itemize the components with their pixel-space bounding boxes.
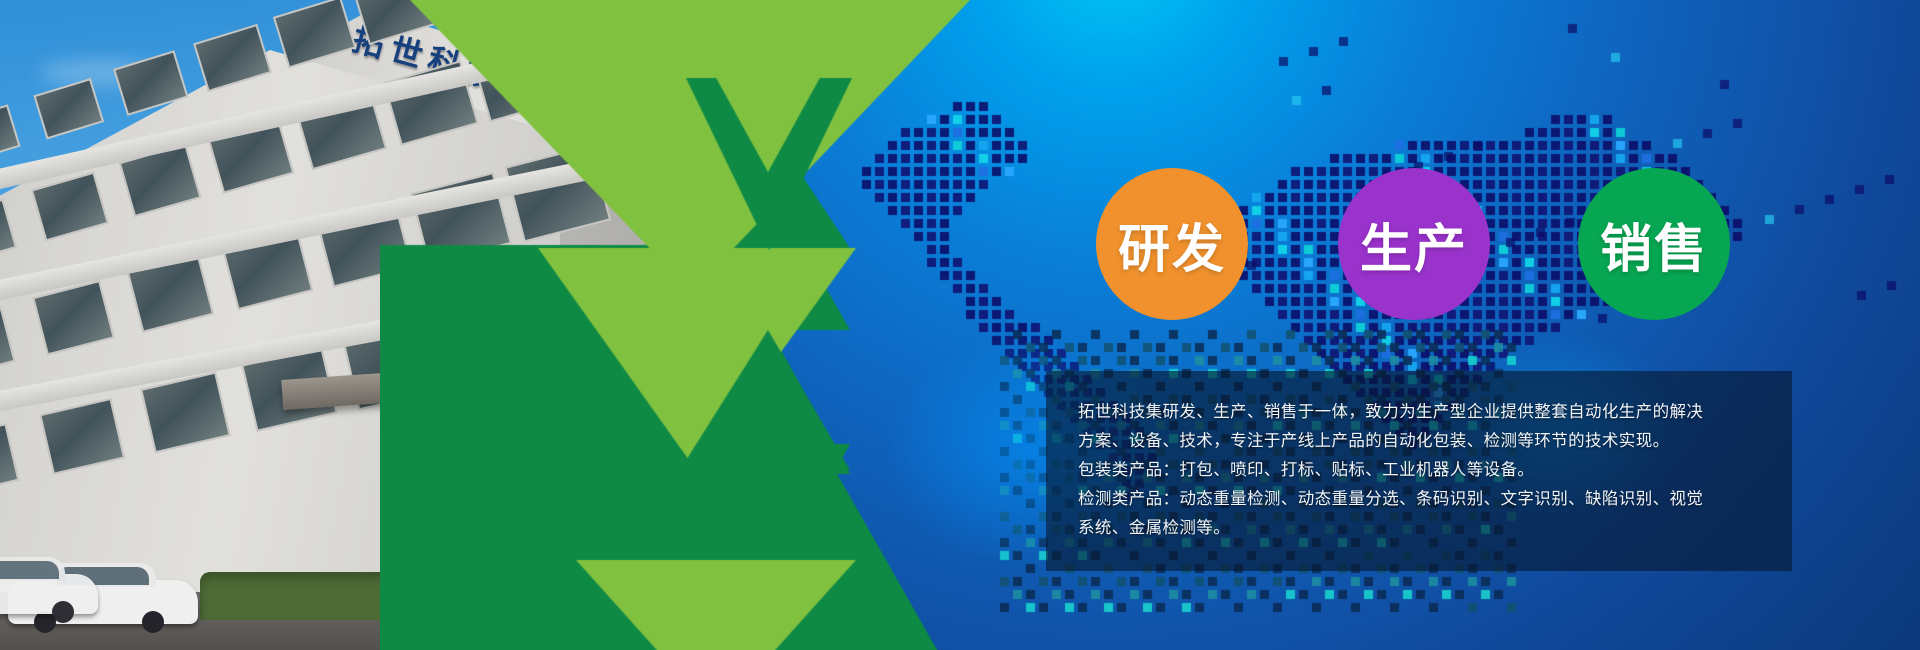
company-description-panel: 拓世科技集研发、生产、销售于一体，致力为生产型企业提供整套自动化生产的解决 方案… [1046, 371, 1792, 571]
badge-sales[interactable]: 销售 [1578, 168, 1730, 320]
car-wheel [142, 611, 164, 633]
parked-car [0, 574, 98, 614]
car-window [0, 561, 59, 579]
badge-production[interactable]: 生产 [1338, 168, 1490, 320]
hedge [200, 572, 410, 620]
description-line: 检测类产品：动态重量检测、动态重量分选、条码识别、文字识别、缺陷识别、视觉 [1078, 484, 1762, 513]
green-triangle-divider [380, 0, 1140, 650]
description-line: 方案、设备、技术，专注于产线上产品的自动化包装、检测等环节的技术实现。 [1078, 426, 1762, 455]
car-wheel [52, 601, 74, 623]
badge-research-development[interactable]: 研发 [1096, 168, 1248, 320]
description-line: 系统、金属检测等。 [1078, 513, 1762, 542]
description-line: 包装类产品：打包、喷印、打标、贴标、工业机器人等设备。 [1078, 455, 1762, 484]
company-hero-banner: 拓世科技 研发 生产 销售 拓世科技集研发、生产、销售于一体，致力为生产型企业提… [0, 0, 1920, 650]
description-line: 拓世科技集研发、生产、销售于一体，致力为生产型企业提供整套自动化生产的解决 [1078, 397, 1762, 426]
